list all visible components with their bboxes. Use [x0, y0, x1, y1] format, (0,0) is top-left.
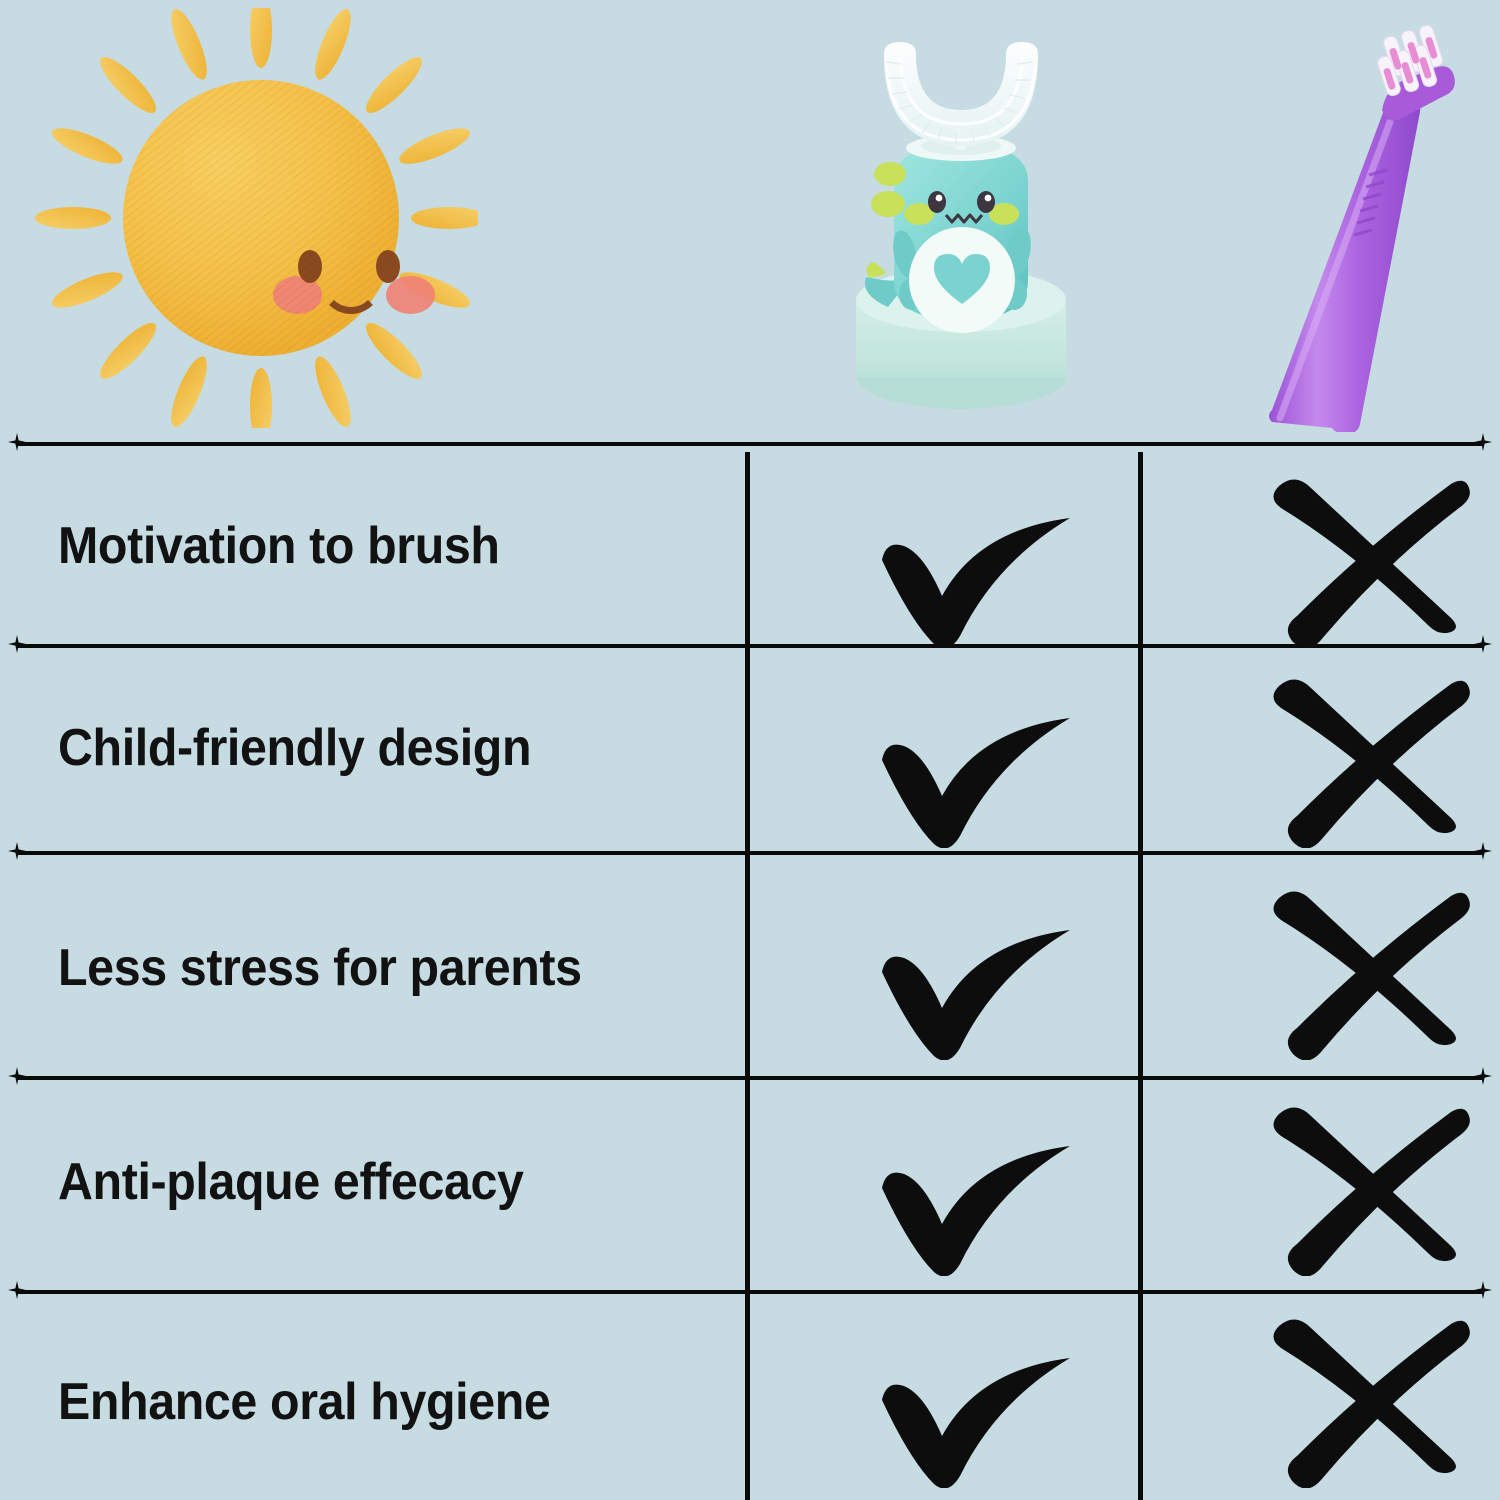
- sparkle-icon: [1474, 1067, 1492, 1085]
- table-row: Less stress for parents: [58, 938, 690, 998]
- cross-icon: [1255, 468, 1485, 648]
- check-icon: [860, 1308, 1090, 1488]
- column-divider-2: [1138, 452, 1143, 1500]
- sparkle-icon: [8, 842, 26, 860]
- cross-icon: [1255, 880, 1485, 1060]
- row-divider-3: [17, 1074, 1483, 1080]
- comparison-infographic: Motivation to brush Child-friendly desig…: [0, 0, 1500, 1500]
- table-top-border: [17, 440, 1483, 446]
- check-icon: [860, 1096, 1090, 1276]
- table-row: Anti-plaque effecacy: [58, 1152, 690, 1212]
- sparkle-icon: [8, 635, 26, 653]
- column-divider-1: [745, 452, 750, 1500]
- sparkle-icon: [8, 1281, 26, 1299]
- table-row: Child-friendly design: [58, 718, 690, 778]
- table-row: Enhance oral hygiene: [58, 1372, 690, 1432]
- sparkle-icon: [8, 433, 26, 451]
- check-icon: [860, 668, 1090, 848]
- cross-icon: [1255, 1308, 1485, 1488]
- sparkle-icon: [1474, 433, 1492, 451]
- check-icon: [860, 468, 1090, 648]
- cross-icon: [1255, 668, 1485, 848]
- sparkle-icon: [1474, 1281, 1492, 1299]
- row-divider-4: [17, 1288, 1483, 1294]
- sparkle-icon: [8, 1067, 26, 1085]
- comparison-table: Motivation to brush Child-friendly desig…: [0, 0, 1500, 1500]
- table-row: Motivation to brush: [58, 516, 690, 576]
- cross-icon: [1255, 1096, 1485, 1276]
- row-divider-2: [17, 849, 1483, 855]
- check-icon: [860, 880, 1090, 1060]
